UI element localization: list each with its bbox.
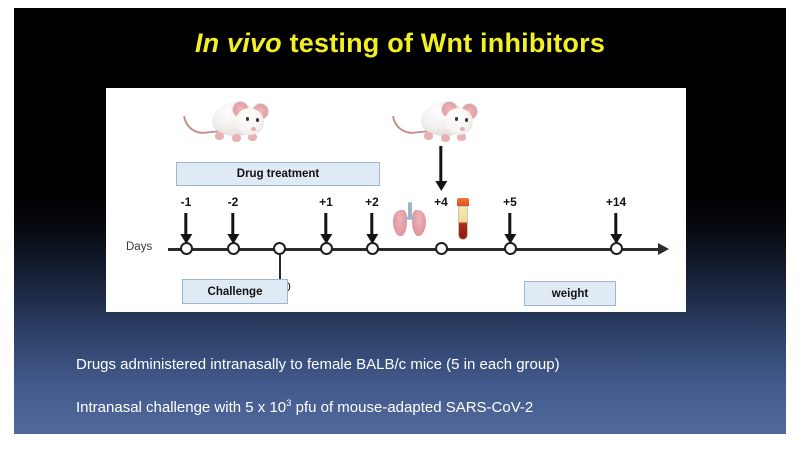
mouse-foot (441, 134, 450, 142)
diagram-panel: Drug treatment Days -1 -2 +1 +2 +4 +5 +1… (106, 88, 686, 312)
timeline-node (610, 242, 623, 255)
page-title: In vivo testing of Wnt inhibitors (14, 28, 786, 59)
mouse-icon (184, 94, 270, 146)
tick-label-day-plus4: +4 (434, 195, 448, 209)
down-arrow-icon (184, 213, 187, 235)
slide-background: In vivo testing of Wnt inhibitors (14, 8, 786, 434)
mouse-icon (393, 94, 479, 146)
challenge-label: Challenge (208, 286, 263, 298)
down-arrow-icon (508, 213, 511, 235)
mouse-foot (232, 134, 241, 142)
tick-label-day-plus2: +2 (365, 195, 379, 209)
timeline-node (227, 242, 240, 255)
tick-label-day-plus14: +14 (606, 195, 626, 209)
mouse-head (236, 108, 264, 135)
drug-treatment-label: Drug treatment (237, 168, 319, 180)
timeline-node (180, 242, 193, 255)
tick-label-day-minus2: -2 (228, 195, 239, 209)
tick-label-day-plus1: +1 (319, 195, 333, 209)
title-italic-part: In vivo (195, 28, 282, 58)
down-arrow-icon (324, 213, 327, 235)
mouse-foot (424, 132, 433, 140)
down-arrow-icon (614, 213, 617, 235)
timeline-axis (168, 248, 662, 251)
timeline-node (435, 242, 448, 255)
caption-line-2-post: pfu of mouse-adapted SARS-CoV-2 (291, 399, 533, 416)
tube-cap (457, 198, 469, 206)
down-arrow-icon (370, 213, 373, 235)
mouse-head (445, 108, 473, 135)
timeline-node (366, 242, 379, 255)
mouse-foot (215, 132, 224, 140)
drug-treatment-box: Drug treatment (176, 162, 380, 186)
tick-label-day-plus5: +5 (503, 195, 517, 209)
title-rest-part: testing of Wnt inhibitors (282, 28, 605, 58)
lungs-icon (392, 202, 428, 238)
trachea (408, 202, 412, 220)
caption-line-1: Drugs administered intranasally to femal… (76, 356, 560, 373)
down-arrow-icon (231, 213, 234, 235)
timeline-node (320, 242, 333, 255)
weight-box: weight (524, 281, 616, 306)
caption-line-2-pre: Intranasal challenge with 5 x 10 (76, 399, 286, 416)
tube-barrel (458, 206, 468, 240)
tick-label-day-minus1: -1 (181, 195, 192, 209)
caption-line-2: Intranasal challenge with 5 x 103 pfu of… (76, 398, 533, 416)
timeline-node (504, 242, 517, 255)
axis-label-days: Days (126, 241, 152, 253)
challenge-box: Challenge (182, 279, 288, 304)
mouse-nose (460, 127, 465, 131)
arrow-right-icon (658, 243, 669, 255)
down-arrow-icon (439, 146, 442, 182)
blood-collection-tube-icon (457, 198, 469, 240)
slide-canvas: In vivo testing of Wnt inhibitors (0, 0, 800, 450)
weight-label: weight (552, 288, 588, 300)
mouse-nose (251, 127, 256, 131)
